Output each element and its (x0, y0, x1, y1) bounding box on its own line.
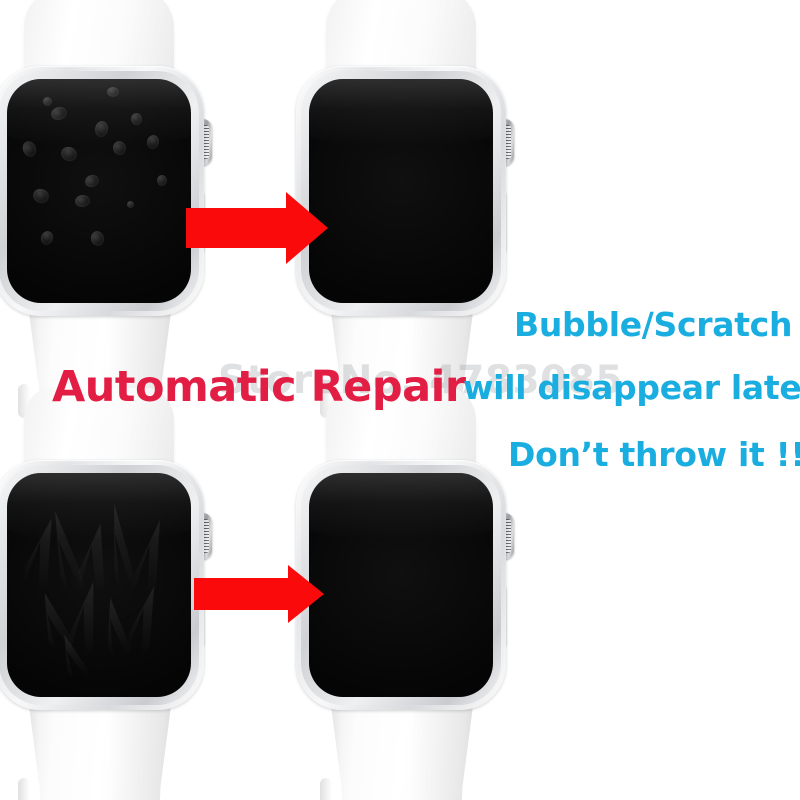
scratch-blemish (75, 521, 115, 595)
screen-vignette (309, 473, 493, 697)
arrow-shaft (194, 578, 288, 610)
screen-vignette (309, 79, 493, 303)
watch-screen-defective-bubbles (7, 79, 191, 303)
bubble-blemish (89, 230, 105, 248)
watch-case (296, 66, 506, 316)
watch-band-notch (320, 778, 332, 800)
product-ad-canvas: StoreNo. 4783085 Automatic Repair Bubble… (0, 0, 800, 800)
headline-automatic-repair: Automatic Repair (52, 362, 466, 412)
screen-vignette (7, 79, 191, 303)
screen-vignette (7, 473, 191, 697)
bubble-blemish (157, 175, 167, 186)
scratch-blemish (65, 579, 106, 659)
watch-screen-repaired (309, 79, 493, 303)
scratch-defect-overlay (7, 473, 191, 697)
bubble-blemish (31, 187, 51, 205)
bubble-blemish (39, 229, 55, 246)
bubble-blemish (43, 97, 52, 106)
bubble-defect-overlay (7, 79, 191, 303)
bubble-blemish (20, 139, 39, 159)
benefit-line-2: will disappear later (463, 368, 800, 407)
bubble-blemish (112, 140, 127, 156)
bubble-blemish (93, 120, 109, 138)
scratch-blemish (130, 517, 172, 598)
scratch-blemish (45, 508, 88, 599)
screen-gloss (309, 473, 493, 540)
screen-gloss (7, 79, 191, 146)
scratch-blemish (124, 583, 166, 657)
scratch-blemish (55, 631, 90, 683)
watch-bottom-left (0, 388, 216, 800)
scratch-blemish (34, 589, 77, 657)
scratch-blemish (19, 515, 64, 593)
watch-case (0, 66, 204, 316)
benefit-line-3: Don’t throw it !!! (508, 435, 800, 474)
bubble-blemish (107, 87, 119, 97)
bubble-blemish (74, 194, 91, 208)
screen-gloss (309, 79, 493, 146)
watch-screen-repaired (309, 473, 493, 697)
scratch-blemish (105, 502, 138, 596)
arrow-head (286, 192, 328, 264)
bubble-blemish (49, 105, 68, 122)
arrow-shaft (186, 208, 286, 248)
watch-band-notch (18, 778, 30, 800)
benefit-line-1: Bubble/Scratch (514, 305, 792, 344)
watch-case (296, 460, 506, 710)
scratch-blemish (100, 596, 132, 661)
screen-gloss (7, 473, 191, 540)
watch-screen-defective-scratches (7, 473, 191, 697)
arrow-head (288, 565, 324, 623)
bubble-blemish (131, 113, 142, 125)
watch-case (0, 460, 204, 710)
bubble-blemish (145, 134, 160, 151)
bubble-blemish (127, 201, 134, 208)
bubble-blemish (59, 145, 79, 164)
bubble-blemish (83, 173, 100, 189)
